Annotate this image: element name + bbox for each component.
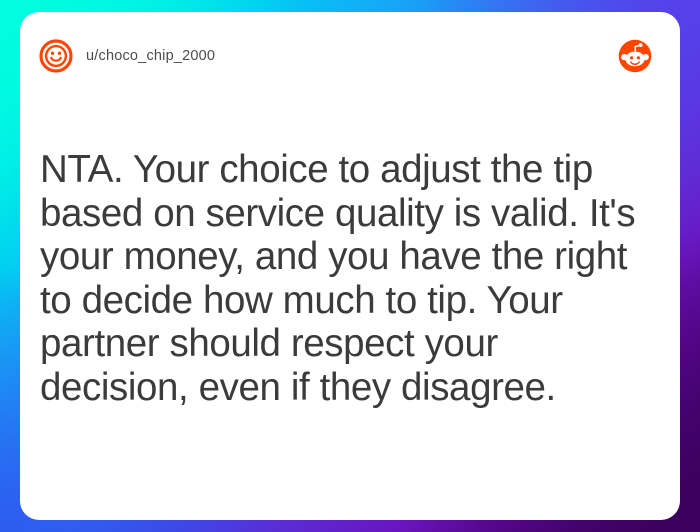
- comment-text: NTA. Your choice to adjust the tip based…: [40, 148, 654, 409]
- reddit-comment-card: u/choco_chip_2000: [20, 12, 680, 520]
- reddit-snoo-icon[interactable]: [618, 39, 652, 73]
- screenshot-root: u/choco_chip_2000: [0, 0, 700, 532]
- author-username: u/choco_chip_2000: [86, 48, 215, 64]
- author-block[interactable]: u/choco_chip_2000: [38, 38, 215, 74]
- card-body: NTA. Your choice to adjust the tip based…: [40, 148, 654, 409]
- card-header: u/choco_chip_2000: [20, 12, 680, 100]
- avatar: [38, 38, 74, 74]
